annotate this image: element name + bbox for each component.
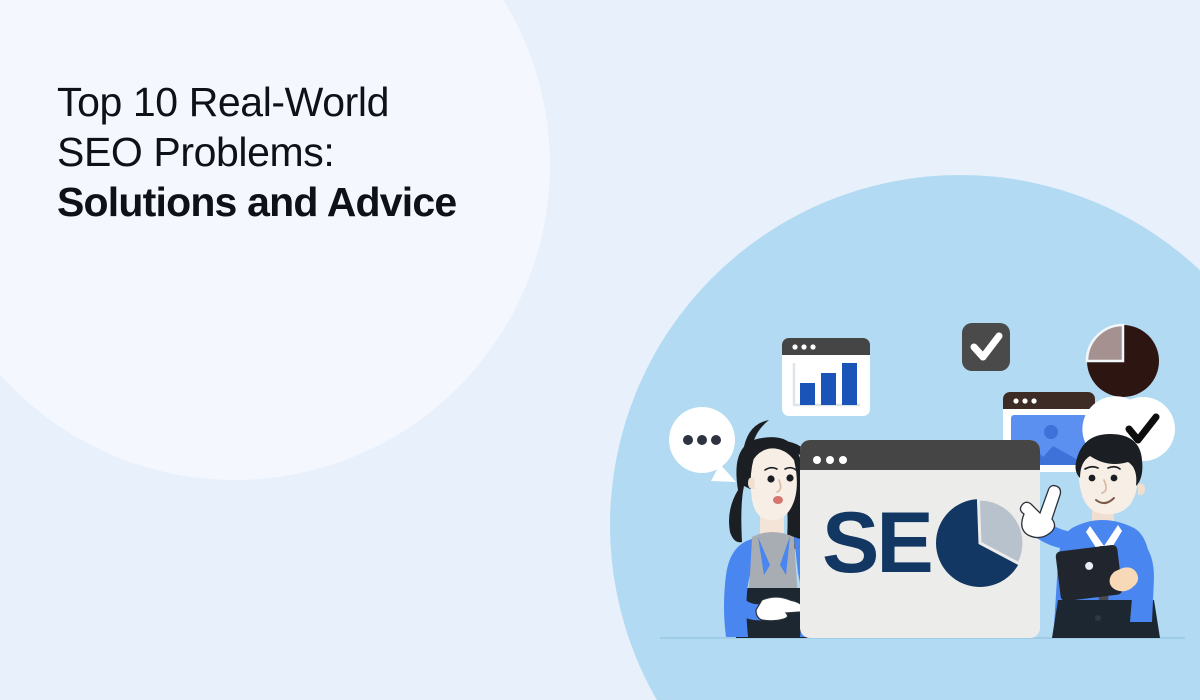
bar-chart-window bbox=[782, 338, 870, 416]
bar-3 bbox=[842, 363, 857, 405]
window-dot-1 bbox=[813, 456, 821, 464]
eye-right bbox=[1111, 475, 1118, 482]
pie-chart-icon bbox=[1087, 325, 1159, 397]
eye-left bbox=[767, 475, 774, 482]
seo-browser-window: SE bbox=[800, 440, 1040, 638]
bubble-dot-3 bbox=[711, 435, 721, 445]
window-titlebar bbox=[800, 440, 1040, 470]
seo-team-illustration: SE bbox=[640, 300, 1200, 700]
tablet bbox=[1055, 544, 1123, 601]
svg-text:SE: SE bbox=[822, 495, 931, 591]
bubble-dot-2 bbox=[697, 435, 707, 445]
dots-speech-bubble bbox=[669, 407, 736, 482]
window-dot-3 bbox=[839, 456, 847, 464]
page-title: Top 10 Real-World SEO Problems: Solution… bbox=[57, 77, 577, 227]
background-pale-circle bbox=[0, 0, 550, 480]
eye-left bbox=[1089, 475, 1096, 482]
check-square-icon bbox=[962, 323, 1010, 371]
bar-1 bbox=[800, 383, 815, 405]
eye-right bbox=[786, 474, 793, 481]
window-dot-2 bbox=[826, 456, 834, 464]
seo-logo: SE bbox=[822, 494, 1039, 591]
page-title-line-3: Solutions and Advice bbox=[57, 177, 577, 227]
page-root: Top 10 Real-World SEO Problems: Solution… bbox=[0, 0, 1200, 700]
bar-2 bbox=[821, 373, 836, 405]
page-title-line-2: SEO Problems: bbox=[57, 127, 577, 177]
bubble-dot-1 bbox=[683, 435, 693, 445]
page-title-line-1: Top 10 Real-World bbox=[57, 77, 577, 127]
